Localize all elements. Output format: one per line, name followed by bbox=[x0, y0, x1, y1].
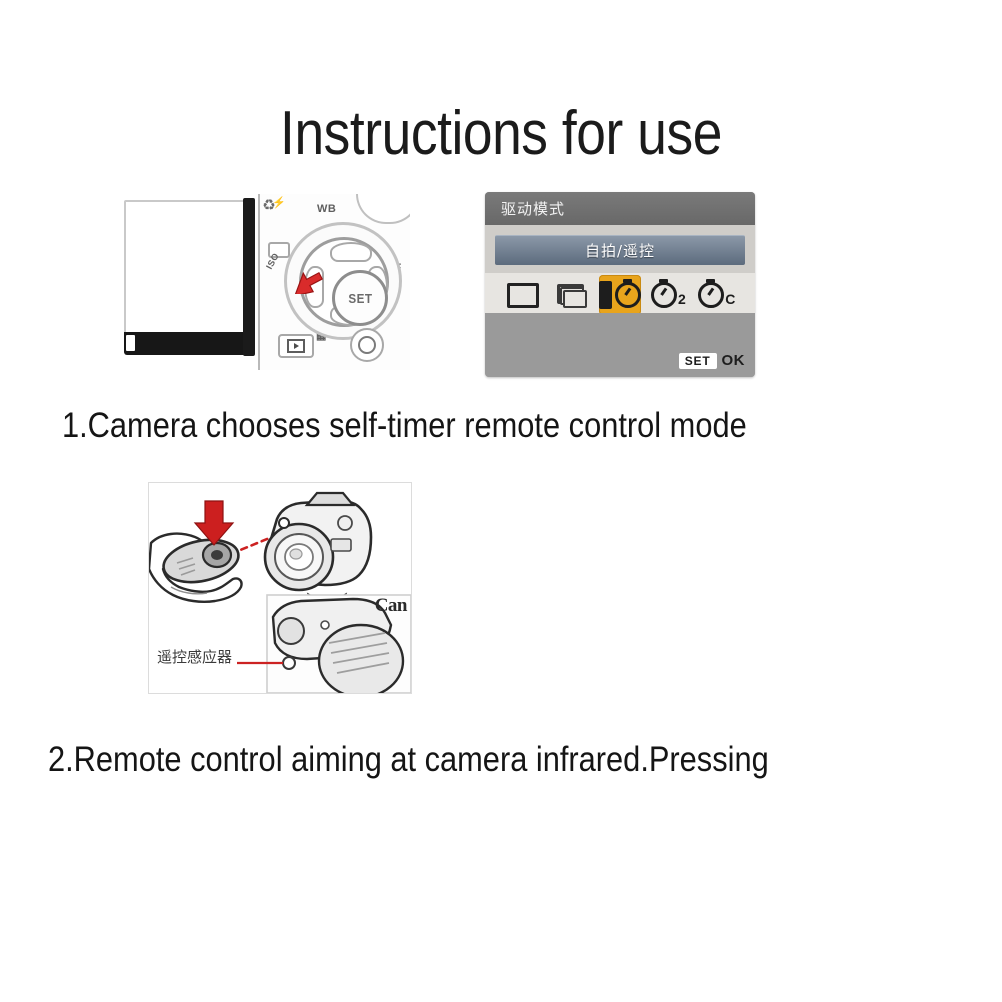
set-button-label: SET bbox=[348, 291, 372, 306]
self-timer-continuous-sub: C bbox=[725, 291, 735, 307]
camera-back-photo: ⚡ WB AF ISO ▦ SET bbox=[120, 192, 410, 376]
drive-mode-menu-panel: 驱动模式 自拍/遥控 bbox=[485, 192, 755, 377]
continuous-shooting-icon[interactable] bbox=[551, 275, 593, 315]
playback-button[interactable] bbox=[278, 334, 314, 358]
remote-sensor-label: 遥控感应器 bbox=[157, 646, 232, 667]
camera-ir-receiver bbox=[279, 518, 289, 528]
camera-lcd-screen bbox=[124, 200, 252, 334]
menu-title: 驱动模式 bbox=[501, 198, 565, 219]
single-shooting-icon[interactable] bbox=[502, 275, 544, 315]
selected-mode-bar: 自拍/遥控 bbox=[495, 235, 745, 265]
self-timer-remote-icon[interactable] bbox=[599, 275, 641, 315]
selected-mode-label: 自拍/遥控 bbox=[585, 240, 655, 261]
canon-brand-wordmark: Can bbox=[375, 595, 407, 617]
press-down-arrow-icon bbox=[195, 501, 233, 545]
menu-body: 自拍/遥控 2 bbox=[485, 225, 755, 313]
camera-lcd-bezel bbox=[124, 332, 252, 355]
quick-control-icon bbox=[358, 336, 376, 354]
page-title: Instructions for use bbox=[70, 98, 932, 169]
step2-illustration: 遥控感应器 Can bbox=[148, 482, 412, 694]
play-icon bbox=[287, 339, 305, 353]
wb-label: WB bbox=[317, 203, 336, 215]
step-1-caption: 1.Camera chooses self-timer remote contr… bbox=[62, 406, 747, 446]
quick-control-button[interactable] bbox=[350, 328, 384, 362]
dial-up-button[interactable] bbox=[330, 242, 372, 262]
ok-label: OK bbox=[722, 352, 746, 369]
self-timer-2sec-icon[interactable]: 2 bbox=[647, 275, 689, 315]
step1-figure-row: ⚡ WB AF ISO ▦ SET bbox=[120, 192, 760, 376]
camera-control-area: ⚡ WB AF ISO ▦ SET bbox=[258, 194, 410, 370]
set-badge: SET bbox=[679, 353, 717, 369]
iso-label: ISO bbox=[264, 251, 281, 271]
self-timer-2sec-sub: 2 bbox=[678, 291, 686, 307]
set-button[interactable]: SET bbox=[332, 270, 388, 326]
menu-header: 驱动模式 bbox=[485, 192, 755, 225]
flash-icon: ⚡ bbox=[272, 196, 286, 209]
camera-body-edge bbox=[243, 198, 255, 356]
drive-mode-icon-row: 2 C bbox=[485, 273, 755, 317]
step-2-caption: 2.Remote control aiming at camera infrar… bbox=[48, 740, 769, 780]
menu-footer: SET OK bbox=[485, 313, 755, 377]
remote-emitter bbox=[211, 550, 223, 560]
set-ok-hint: SET OK bbox=[679, 352, 745, 369]
camera-top-curve bbox=[356, 194, 410, 224]
remote-sensor-dot bbox=[283, 657, 295, 669]
camera-lcd-tab bbox=[126, 335, 135, 351]
self-timer-continuous-icon[interactable]: C bbox=[696, 275, 738, 315]
remote-glyph-icon bbox=[599, 281, 612, 309]
